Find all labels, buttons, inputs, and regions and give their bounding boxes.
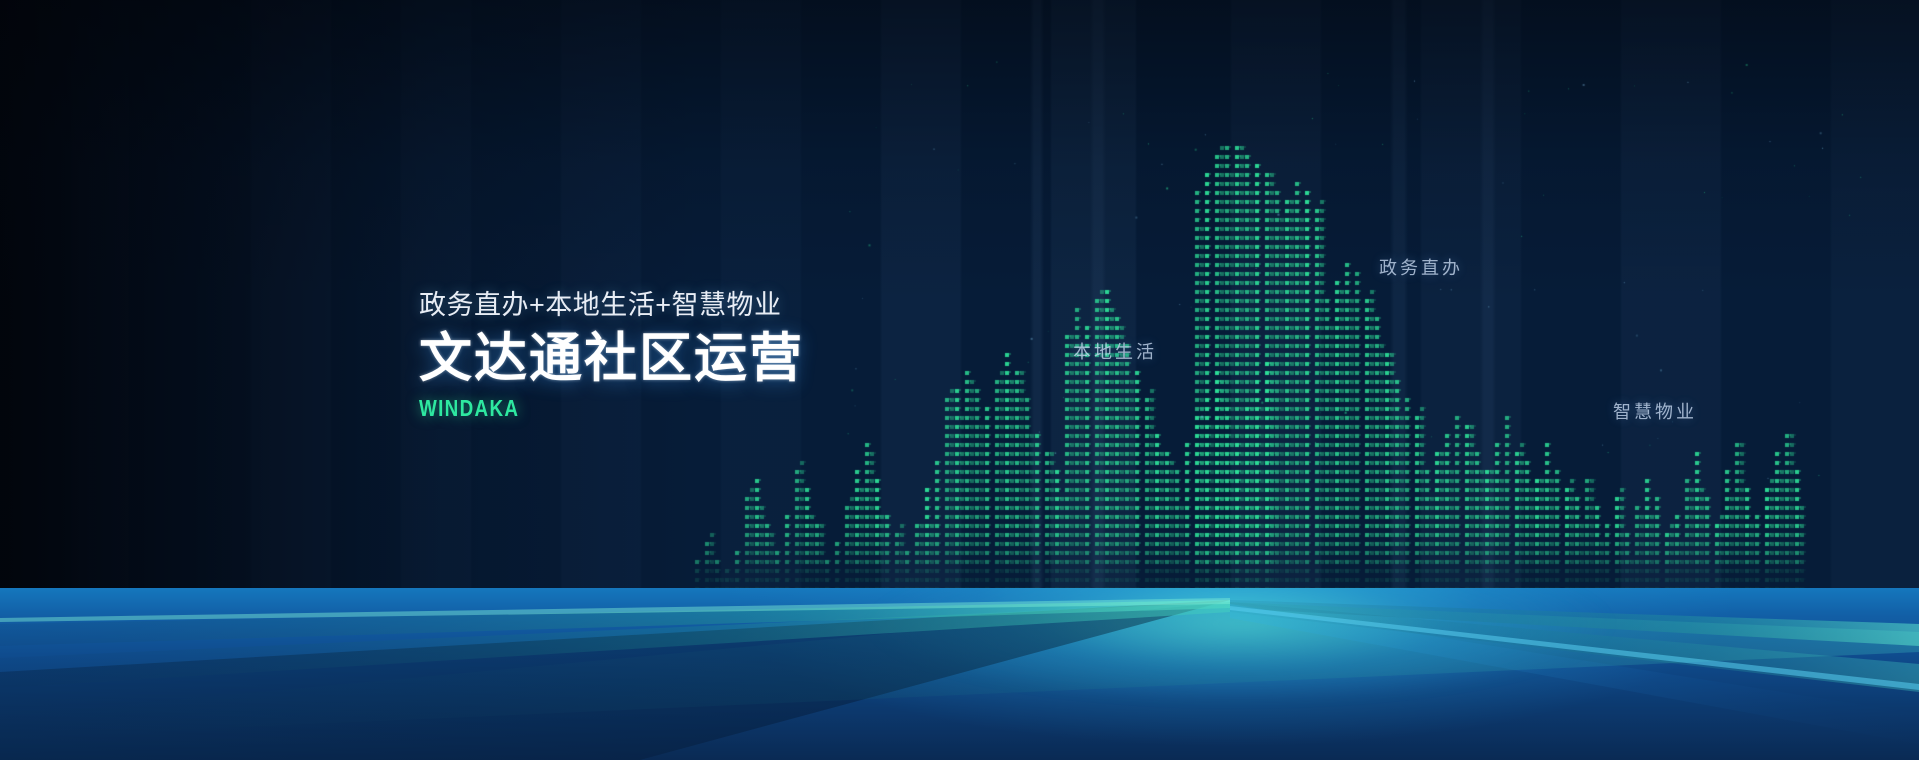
banner-subtitle: 政务直办+本地生活+智慧物业 — [419, 288, 804, 322]
ground-plane — [0, 588, 1919, 760]
city-label-smart-property: 智慧物业 — [1613, 398, 1697, 424]
horizon-glow — [760, 588, 1720, 724]
city-label-local-life: 本地生活 — [1073, 338, 1157, 364]
brand-wordmark: WINDAKA — [419, 395, 735, 422]
city-label-gov-service: 政务直办 — [1379, 254, 1463, 280]
promo-banner: 政务直办+本地生活+智慧物业 文达通社区运营 WINDAKA 本地生活 政务直办… — [0, 0, 1919, 760]
headline-block: 政务直办+本地生活+智慧物业 文达通社区运营 WINDAKA — [419, 288, 804, 422]
dotted-city-skyline — [0, 0, 1919, 620]
banner-title: 文达通社区运营 — [419, 329, 804, 389]
